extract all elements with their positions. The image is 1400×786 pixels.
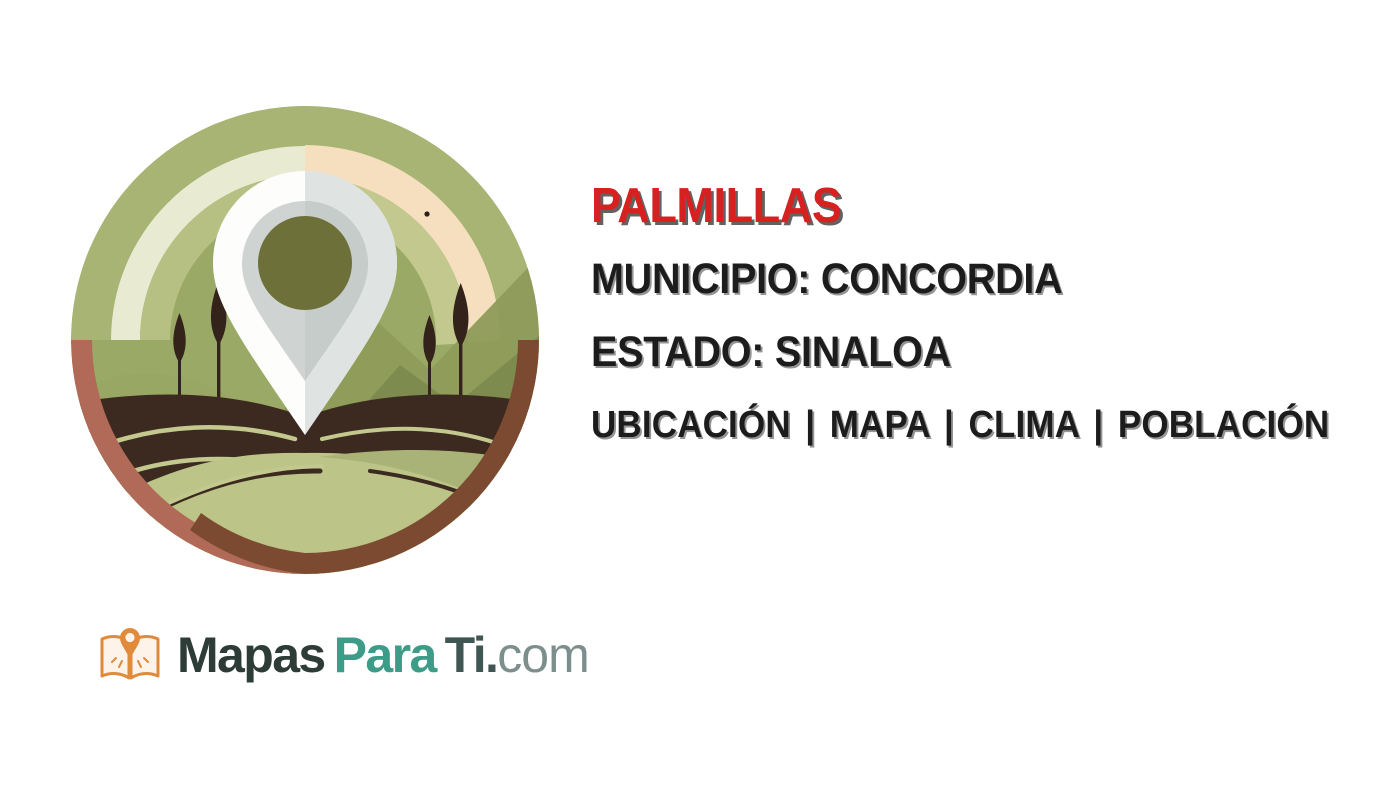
- link-separator: |: [1089, 404, 1108, 446]
- logo-wordmark: Mapas Para Ti. com: [177, 630, 589, 680]
- link-clima[interactable]: CLIMA: [969, 404, 1079, 446]
- link-separator: |: [801, 404, 820, 446]
- state-line: ESTADO: SINALOA: [591, 331, 1327, 374]
- open-book-with-map-pin-icon: [97, 622, 163, 688]
- pin-center-circle: [258, 216, 352, 310]
- circular-landscape-map-pin-badge: [70, 105, 540, 575]
- link-separator: |: [939, 404, 958, 446]
- bird-dot: [424, 211, 429, 216]
- badge-illustration: [70, 105, 540, 575]
- link-mapa[interactable]: MAPA: [830, 404, 930, 446]
- mapasparati-logo[interactable]: Mapas Para Ti. com: [97, 618, 589, 692]
- logo-text-ti: Ti.: [445, 630, 498, 680]
- logo-text-mapas: Mapas: [177, 630, 325, 680]
- link-poblacion[interactable]: POBLACIÓN: [1118, 404, 1329, 446]
- municipality-line: MUNICIPIO: CONCORDIA: [591, 258, 1327, 301]
- logo-text-com: com: [497, 630, 588, 680]
- pin-hole: [125, 633, 134, 642]
- logo-text-para: Para: [334, 630, 436, 680]
- page-title: PALMILLAS: [591, 182, 1327, 231]
- section-links: UBICACIÓN | MAPA | CLIMA | POBLACIÓN: [591, 406, 1327, 444]
- link-ubicacion[interactable]: UBICACIÓN: [591, 404, 791, 446]
- page-root: Mapas Para Ti. com PALMILLAS MUNICIPIO: …: [0, 0, 1400, 786]
- location-info-block: PALMILLAS MUNICIPIO: CONCORDIA ESTADO: S…: [591, 182, 1391, 444]
